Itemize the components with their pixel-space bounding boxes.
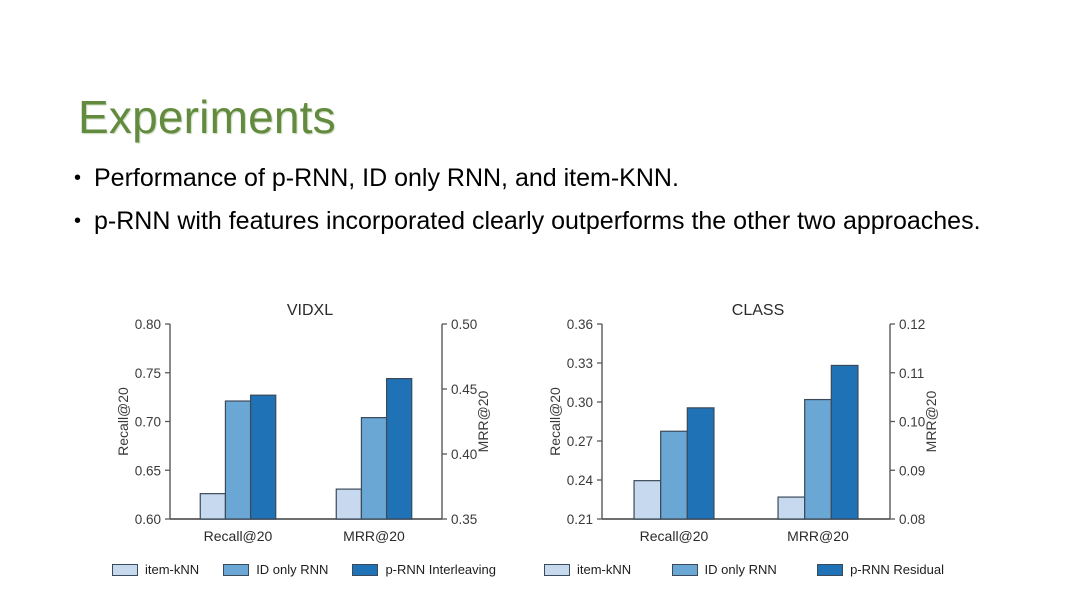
chart-legend: item-kNNID only RNNp-RNN Residual bbox=[540, 562, 948, 577]
chart-vidxl: VIDXL 0.600.650.700.750.800.350.400.450.… bbox=[108, 296, 500, 581]
legend-swatch-icon bbox=[223, 564, 249, 576]
legend-item: ID only RNN bbox=[223, 562, 328, 577]
bar bbox=[361, 418, 386, 519]
y2-axis-tick-label: 0.09 bbox=[899, 463, 925, 478]
bullet-list: • Performance of p-RNN, ID only RNN, and… bbox=[74, 160, 1014, 246]
legend-label: ID only RNN bbox=[705, 562, 777, 577]
legend-item: item-kNN bbox=[544, 562, 631, 577]
bar bbox=[225, 401, 250, 519]
list-item-label: p-RNN with features incorporated clearly… bbox=[94, 203, 1014, 239]
x-axis-category-label: MRR@20 bbox=[343, 528, 405, 544]
legend-swatch-icon bbox=[672, 564, 698, 576]
page-title: Experiments bbox=[78, 89, 336, 145]
legend-swatch-icon bbox=[817, 564, 843, 576]
legend-swatch-icon bbox=[352, 564, 378, 576]
list-item: • p-RNN with features incorporated clear… bbox=[74, 203, 1014, 239]
y2-axis-tick-label: 0.11 bbox=[899, 366, 924, 381]
list-item-label: Performance of p-RNN, ID only RNN, and i… bbox=[94, 160, 1014, 196]
legend-item: item-kNN bbox=[112, 562, 199, 577]
y-axis-tick-label: 0.27 bbox=[567, 434, 593, 449]
bar bbox=[831, 365, 858, 519]
legend-item: ID only RNN bbox=[672, 562, 777, 577]
bar bbox=[336, 489, 361, 519]
y-axis-tick-label: 0.24 bbox=[567, 473, 594, 488]
list-item: • Performance of p-RNN, ID only RNN, and… bbox=[74, 160, 1014, 196]
legend-swatch-icon bbox=[544, 564, 570, 576]
bar bbox=[200, 494, 225, 519]
y-axis-tick-label: 0.30 bbox=[567, 395, 593, 410]
legend-item: p-RNN Interleaving bbox=[352, 562, 496, 577]
legend-swatch-icon bbox=[112, 564, 138, 576]
y-axis-tick-label: 0.65 bbox=[135, 463, 161, 478]
bar bbox=[661, 431, 688, 519]
y-axis-title: Recall@20 bbox=[547, 387, 563, 456]
legend-label: item-kNN bbox=[145, 562, 199, 577]
plot-area: 0.600.650.700.750.800.350.400.450.50Reca… bbox=[108, 296, 500, 581]
chart-class: CLASS 0.210.240.270.300.330.360.080.090.… bbox=[540, 296, 948, 581]
chart-legend: item-kNNID only RNNp-RNN Interleaving bbox=[108, 562, 500, 577]
y-axis-tick-label: 0.21 bbox=[567, 512, 593, 527]
y2-axis-tick-label: 0.35 bbox=[451, 512, 477, 527]
legend-item: p-RNN Residual bbox=[817, 562, 944, 577]
x-axis-category-label: Recall@20 bbox=[640, 528, 709, 544]
bar bbox=[251, 395, 276, 519]
slide: Experiments • Performance of p-RNN, ID o… bbox=[0, 0, 1080, 607]
bullet-marker-icon: • bbox=[74, 160, 94, 196]
y2-axis-tick-label: 0.12 bbox=[899, 317, 925, 332]
y-axis-title: Recall@20 bbox=[115, 387, 131, 456]
x-axis-category-label: MRR@20 bbox=[787, 528, 849, 544]
chart-svg: 0.600.650.700.750.800.350.400.450.50Reca… bbox=[108, 296, 500, 581]
bar bbox=[634, 481, 661, 519]
legend-label: ID only RNN bbox=[256, 562, 328, 577]
y-axis-tick-label: 0.70 bbox=[135, 415, 161, 430]
y2-axis-tick-label: 0.40 bbox=[451, 447, 477, 462]
x-axis-category-label: Recall@20 bbox=[204, 528, 273, 544]
y-axis-tick-label: 0.36 bbox=[567, 317, 593, 332]
y-axis-tick-label: 0.33 bbox=[567, 356, 593, 371]
bar bbox=[387, 379, 412, 519]
chart-svg: 0.210.240.270.300.330.360.080.090.100.11… bbox=[540, 296, 948, 581]
y-axis-tick-label: 0.80 bbox=[135, 317, 161, 332]
y2-axis-title: MRR@20 bbox=[923, 390, 939, 452]
y2-axis-tick-label: 0.08 bbox=[899, 512, 925, 527]
plot-area: 0.210.240.270.300.330.360.080.090.100.11… bbox=[540, 296, 948, 581]
y2-axis-tick-label: 0.10 bbox=[899, 415, 925, 430]
bar bbox=[805, 400, 832, 519]
bullet-marker-icon: • bbox=[74, 203, 94, 239]
y-axis-tick-label: 0.60 bbox=[135, 512, 161, 527]
bar bbox=[687, 408, 714, 519]
legend-label: item-kNN bbox=[577, 562, 631, 577]
charts-container: VIDXL 0.600.650.700.750.800.350.400.450.… bbox=[0, 296, 1080, 581]
y-axis-tick-label: 0.75 bbox=[135, 366, 161, 381]
legend-label: p-RNN Interleaving bbox=[385, 562, 496, 577]
y2-axis-title: MRR@20 bbox=[475, 390, 491, 452]
y2-axis-tick-label: 0.45 bbox=[451, 382, 477, 397]
y2-axis-tick-label: 0.50 bbox=[451, 317, 477, 332]
legend-label: p-RNN Residual bbox=[850, 562, 944, 577]
bar bbox=[778, 497, 805, 519]
